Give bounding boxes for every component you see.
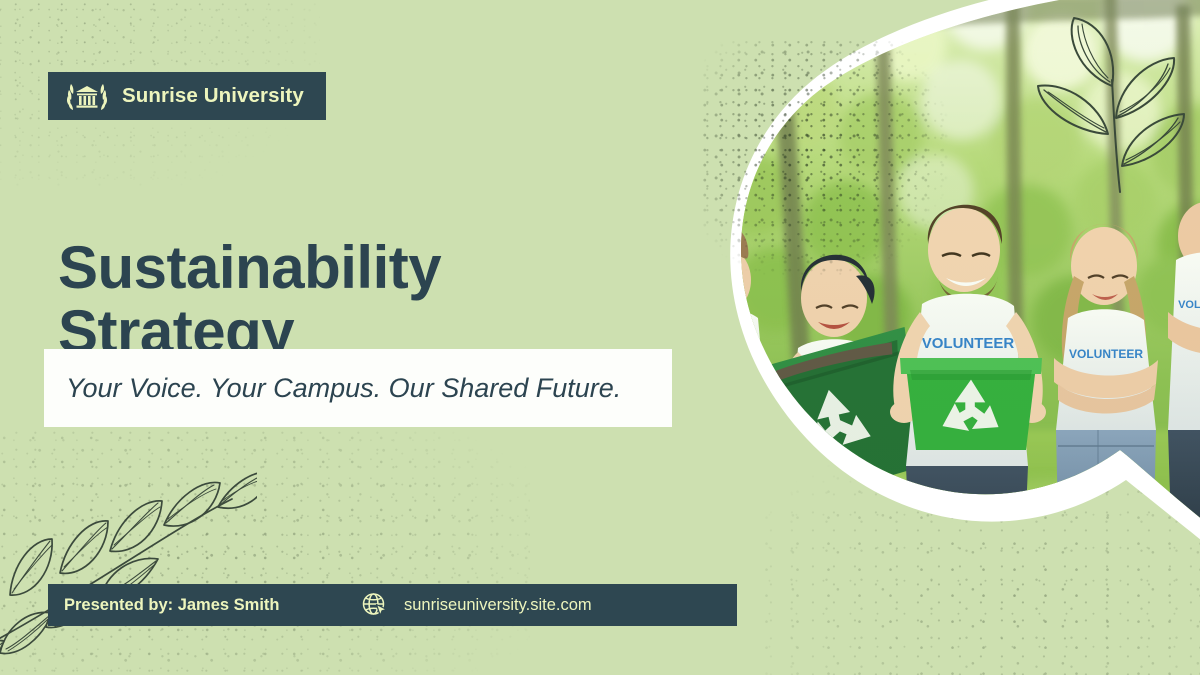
presenter-label: Presented by: James Smith	[64, 596, 280, 615]
leaf-sprig-top-right-icon	[1016, 6, 1200, 196]
university-logo-bar[interactable]: Sunrise University	[48, 72, 326, 120]
presenter-bar: Presented by: James Smith	[48, 584, 363, 626]
globe-cursor-icon	[361, 591, 389, 619]
presentation-slide: VOLUNTEER VOLUNTEER	[0, 0, 1200, 675]
subtitle-text: Your Voice. Your Campus. Our Shared Futu…	[66, 373, 621, 404]
svg-text:VOLUNTEER: VOLUNTEER	[706, 342, 748, 363]
website-url-label: sunriseuniversity.site.com	[404, 596, 592, 615]
leaf-branch-bottom-left-icon	[0, 455, 257, 675]
page-title-line1: Sustainability Strategy	[58, 234, 441, 365]
university-laurel-icon	[64, 81, 110, 111]
university-logo-label: Sunrise University	[122, 84, 304, 108]
website-url-bar[interactable]: sunriseuniversity.site.com	[345, 584, 737, 626]
subtitle-banner: Your Voice. Your Campus. Our Shared Futu…	[44, 349, 672, 427]
